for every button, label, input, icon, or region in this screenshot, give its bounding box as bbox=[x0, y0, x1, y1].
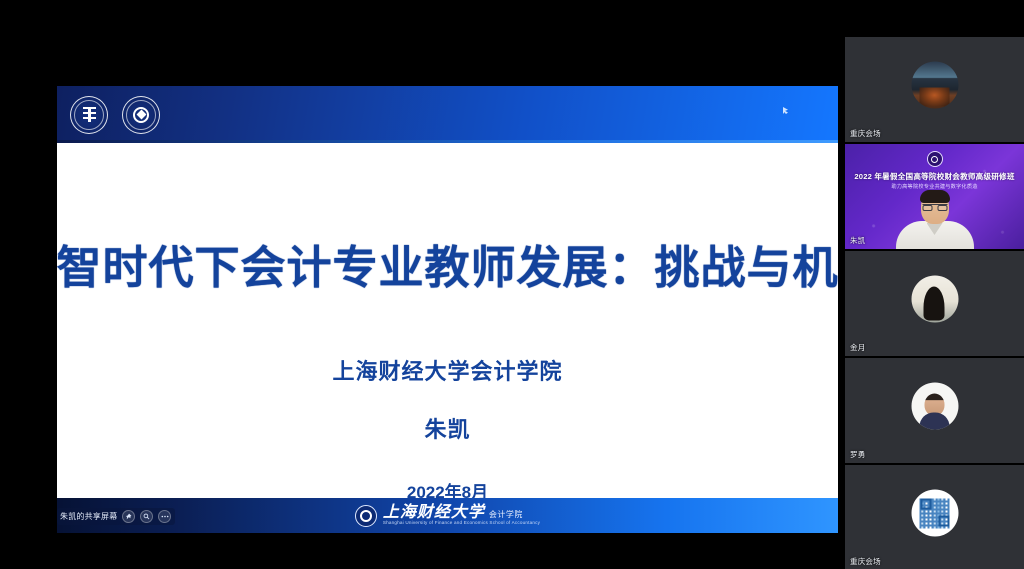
participant-tile-active-speaker[interactable]: 2022 年暑假全国高等院校财会教师高级研修班 助力高等院校专业共建与数字化质造… bbox=[845, 144, 1024, 249]
university-crest-seal-icon bbox=[70, 96, 108, 134]
slide-header-band bbox=[57, 86, 838, 143]
pin-icon[interactable] bbox=[122, 510, 135, 523]
meeting-window: 数智时代下会计专业教师发展：挑战与机遇 上海财经大学会计学院 朱凯 2022年8… bbox=[0, 0, 1024, 569]
participant-tile[interactable]: 金月 bbox=[845, 251, 1024, 356]
landscape-photo-avatar bbox=[911, 62, 958, 109]
participant-name: 罗勇 bbox=[850, 449, 865, 460]
share-owner-label: 朱凯的共享屏幕 bbox=[60, 511, 117, 522]
mouse-cursor-icon bbox=[783, 107, 788, 114]
silhouette-photo-avatar bbox=[911, 276, 958, 323]
footer-logo-cn-small: 会计学院 bbox=[489, 511, 523, 519]
participant-tile[interactable]: 重庆会场 bbox=[845, 37, 1024, 142]
slide-subtitle-organization: 上海财经大学会计学院 bbox=[332, 354, 562, 386]
participant-name: 重庆会场 bbox=[850, 128, 881, 139]
slide-footer-logo: 上海财经大学 会计学院 Shanghai University of Finan… bbox=[355, 505, 540, 527]
shared-screen-stage[interactable]: 数智时代下会计专业教师发展：挑战与机遇 上海财经大学会计学院 朱凯 2022年8… bbox=[57, 86, 838, 533]
qr-code-avatar bbox=[911, 490, 958, 537]
participant-name: 朱凯 bbox=[850, 235, 865, 246]
footer-logo-en: Shanghai University of Finance and Econo… bbox=[383, 521, 540, 526]
share-owner-bar: 朱凯的共享屏幕 bbox=[57, 508, 175, 525]
magnifier-icon[interactable] bbox=[140, 510, 153, 523]
portrait-photo-avatar bbox=[911, 383, 958, 430]
participant-tile[interactable]: 重庆会场 bbox=[845, 465, 1024, 569]
slide-subtitle-author: 朱凯 bbox=[424, 412, 470, 444]
slide-title: 数智时代下会计专业教师发展：挑战与机遇 bbox=[57, 231, 838, 296]
footer-logo-cn: 上海财经大学 bbox=[383, 505, 485, 522]
participant-filmstrip[interactable]: 重庆会场 2022 年暑假全国高等院校财会教师高级研修班 助力高等院校专业共建与… bbox=[845, 37, 1024, 569]
more-icon[interactable] bbox=[158, 510, 171, 523]
sufe-emblem-seal-icon bbox=[927, 151, 943, 167]
participant-name: 重庆会场 bbox=[850, 556, 881, 567]
sufe-footer-seal-icon bbox=[355, 505, 377, 527]
speaker-video-figure bbox=[896, 191, 974, 249]
slide-body: 数智时代下会计专业教师发展：挑战与机遇 上海财经大学会计学院 朱凯 2022年8… bbox=[57, 143, 838, 498]
virtual-background-headline: 2022 年暑假全国高等院校财会教师高级研修班 bbox=[845, 171, 1024, 182]
sufe-emblem-seal-icon bbox=[122, 96, 160, 134]
participant-name: 金月 bbox=[850, 342, 865, 353]
virtual-background: 2022 年暑假全国高等院校财会教师高级研修班 助力高等院校专业共建与数字化质造 bbox=[845, 144, 1024, 249]
virtual-background-subline: 助力高等院校专业共建与数字化质造 bbox=[845, 183, 1024, 190]
participant-tile[interactable]: 罗勇 bbox=[845, 358, 1024, 463]
